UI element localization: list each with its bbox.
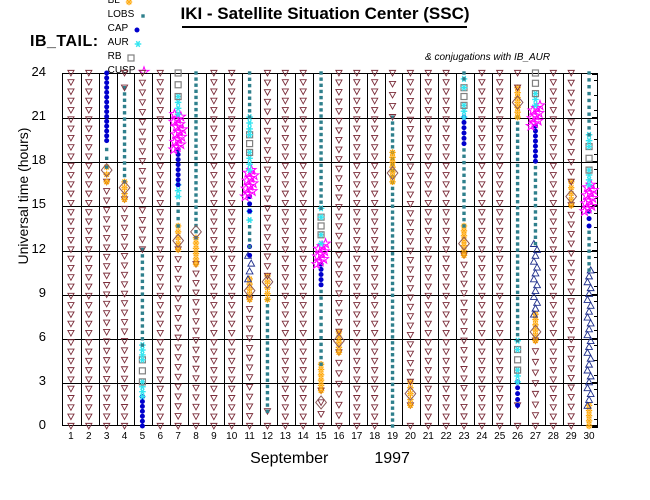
y-tick-minor [594,404,598,405]
y-tick-minor [594,286,598,287]
gridline-v [385,74,386,425]
gridline-h [63,206,597,207]
gridline-v [313,74,314,425]
gridline-v [152,74,153,425]
gridline-v [117,74,118,425]
y-tick-minor [594,183,598,184]
conjugation-note: & conjugations with IB_AUR [425,52,550,63]
legend-item-aur: AUR [108,35,151,49]
dataset-label: IB_TAIL: [30,33,99,51]
gridline-v [474,74,475,425]
legend-label: LOBS [108,9,135,20]
y-tick-minor [594,272,598,273]
y-tick-label: 3 [6,374,46,387]
gridline-v [402,74,403,425]
legend-label: AUR [108,37,129,48]
gridline-v [206,74,207,425]
legend-item-bl: BL [108,0,151,7]
legend-label: RB [108,51,122,62]
gridline-v [277,74,278,425]
x-tick-label: 30 [579,431,599,442]
gridline-v [528,74,529,425]
y-tick-minor [594,169,598,170]
gridline-h [63,295,597,296]
gridline-v [170,74,171,425]
x-axis-year: 1997 [374,450,410,467]
gridline-v [420,74,421,425]
y-tick-mark [592,117,598,119]
star-8-icon [121,0,135,7]
y-tick-minor [594,301,598,302]
gridline-v [545,74,546,425]
y-tick-minor [594,360,598,361]
legend-item-rb: RB [108,49,151,63]
y-tick-mark [592,382,598,384]
gridline-h [63,339,597,340]
y-tick-minor [594,330,598,331]
gridline-v [134,74,135,425]
y-tick-minor [594,80,598,81]
x-axis-label: September1997 [62,450,598,468]
gridline-h [63,383,597,384]
gridline-v [224,74,225,425]
gridline-h [63,118,597,119]
y-tick-minor [594,419,598,420]
page-title: IKI - Satellite Situation Center (SSC) [0,4,650,24]
y-tick-minor [594,389,598,390]
y-tick-minor [594,95,598,96]
y-tick-minor [594,124,598,125]
y-tick-label: 0 [6,418,46,431]
y-tick-minor [594,316,598,317]
title-underline [182,26,467,28]
y-tick-minor [594,227,598,228]
y-tick-minor [594,345,598,346]
legend: IB_TAIL: MSBLLOBSCAPAURRBCUSPPSMP [30,31,152,53]
filled-circle-icon [129,21,143,35]
gridline-v [331,74,332,425]
y-tick-mark [592,294,598,296]
gridline-h [63,251,597,252]
asterisk-icon [130,35,144,49]
y-tick-minor [594,139,598,140]
y-tick-mark [592,250,598,252]
gridline-v [492,74,493,425]
x-axis-month: September [250,450,328,467]
gridline-h [63,162,597,163]
y-axis-label: Universal time (hours) [15,31,31,361]
open-square-icon [123,49,137,63]
small-filled-square-icon [135,7,149,21]
y-tick-mark [592,426,598,428]
y-tick-mark [592,205,598,207]
y-tick-minor [594,110,598,111]
legend-item-lobs: LOBS [108,7,151,21]
y-tick-minor [594,375,598,376]
gridline-v [349,74,350,425]
gridline-v [563,74,564,425]
plot-area [62,73,598,426]
gridline-v [510,74,511,425]
y-tick-mark [592,161,598,163]
gridline-v [188,74,189,425]
gridline-v [260,74,261,425]
gridline-v [99,74,100,425]
legend-item-cap: CAP [108,21,151,35]
y-tick-mark [592,338,598,340]
y-tick-minor [594,213,598,214]
y-tick-minor [594,257,598,258]
gridline-v [81,74,82,425]
gridline-v [367,74,368,425]
y-tick-minor [594,198,598,199]
gridline-v [456,74,457,425]
y-tick-minor [594,242,598,243]
y-tick-minor [594,154,598,155]
gridline-v [438,74,439,425]
y-tick-mark [592,73,598,75]
gridline-v [581,74,582,425]
legend-label: BL [108,0,120,6]
gridline-v [242,74,243,425]
legend-label: CAP [108,23,129,34]
gridline-v [295,74,296,425]
